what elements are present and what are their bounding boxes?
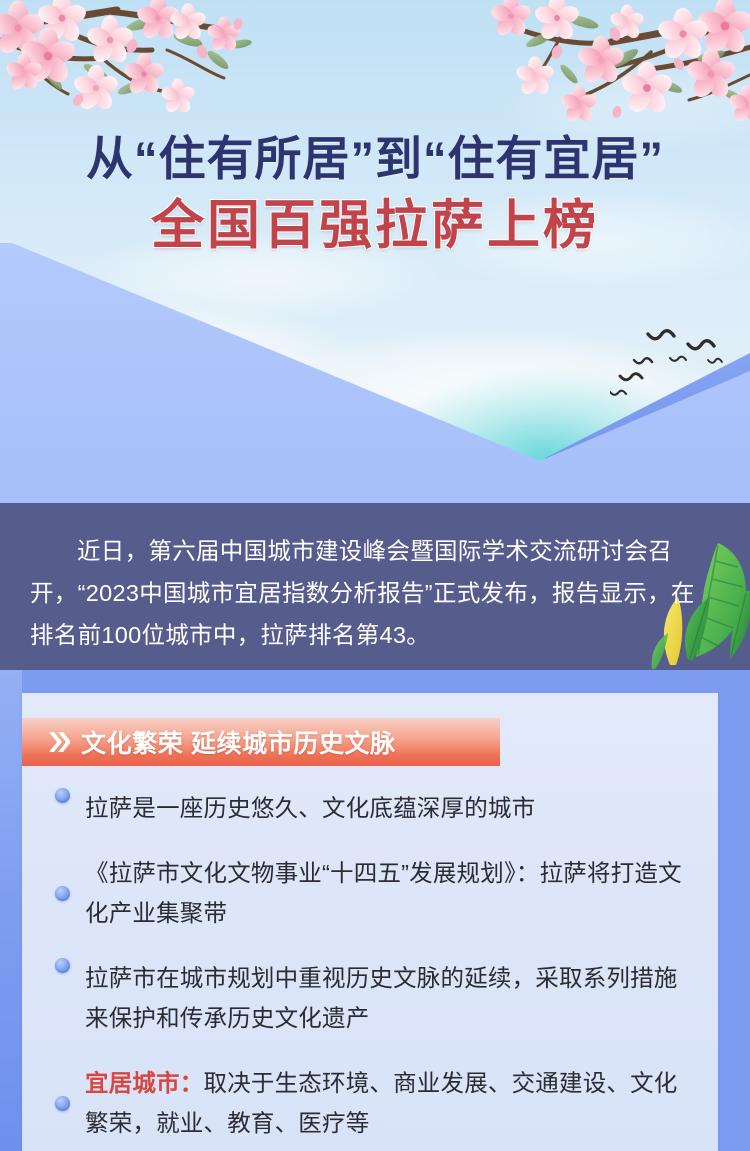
bullet-dot-icon <box>55 958 70 973</box>
list-item-text-highlighted: 宜居城市：取决于生态环境、商业发展、交通建设、文化繁荣，就业、教育、医疗等 <box>85 1063 700 1143</box>
list-item-highlight: 宜居城市： <box>85 1070 204 1096</box>
left-accent-strip <box>0 670 22 1151</box>
content-card: 文化繁荣 延续城市历史文脉 拉萨是一座历史悠久、文化底蕴深厚的城市 《拉萨市文化… <box>22 693 718 1151</box>
double-chevron-right-icon <box>48 730 70 754</box>
list-item: 拉萨是一座历史悠久、文化底蕴深厚的城市 <box>55 788 700 828</box>
bullet-list: 拉萨是一座历史悠久、文化底蕴深厚的城市 《拉萨市文化文物事业“十四五”发展规划》… <box>55 788 700 1143</box>
cherry-blossom-branch-icon <box>411 0 750 140</box>
infographic-page: 从“住有所居”到“住有宜居” 全国百强拉萨上榜 <box>0 0 750 1151</box>
title-line-primary: 从“住有所居”到“住有宜居” <box>0 131 750 187</box>
cherry-blossom-branch-icon <box>0 0 312 150</box>
list-item: 拉萨市在城市规划中重视历史文脉的延续，采取系列措施来保护和传承历史文化遗产 <box>55 958 700 1038</box>
section-header-title: 文化繁荣 延续城市历史文脉 <box>81 724 396 760</box>
intro-paragraph: 近日，第六届中国城市建设峰会暨国际学术交流研讨会召开，“2023中国城市宜居指数… <box>0 503 750 656</box>
list-item: 《拉萨市文化文物事业“十四五”发展规划》：拉萨将打造文化产业集聚带 <box>55 853 700 933</box>
intro-summary-band: 近日，第六届中国城市建设峰会暨国际学术交流研讨会召开，“2023中国城市宜居指数… <box>0 503 750 670</box>
bullet-dot-icon <box>55 788 70 803</box>
bullet-dot-icon <box>55 1096 70 1111</box>
list-item: 宜居城市：取决于生态环境、商业发展、交通建设、文化繁荣，就业、教育、医疗等 <box>55 1063 700 1143</box>
flying-birds-icon <box>610 320 740 410</box>
list-item-text: 拉萨市在城市规划中重视历史文脉的延续，采取系列措施来保护和传承历史文化遗产 <box>85 958 700 1038</box>
list-item-text: 《拉萨市文化文物事业“十四五”发展规划》：拉萨将打造文化产业集聚带 <box>85 853 700 933</box>
hero-sky-banner: 从“住有所居”到“住有宜居” 全国百强拉萨上榜 <box>0 0 750 503</box>
title-line-secondary: 全国百强拉萨上榜 <box>0 196 750 257</box>
page-title: 从“住有所居”到“住有宜居” 全国百强拉萨上榜 <box>0 131 750 257</box>
section-header-banner[interactable]: 文化繁荣 延续城市历史文脉 <box>22 718 500 766</box>
bullet-dot-icon <box>55 886 70 901</box>
list-item-text: 拉萨是一座历史悠久、文化底蕴深厚的城市 <box>85 788 535 828</box>
